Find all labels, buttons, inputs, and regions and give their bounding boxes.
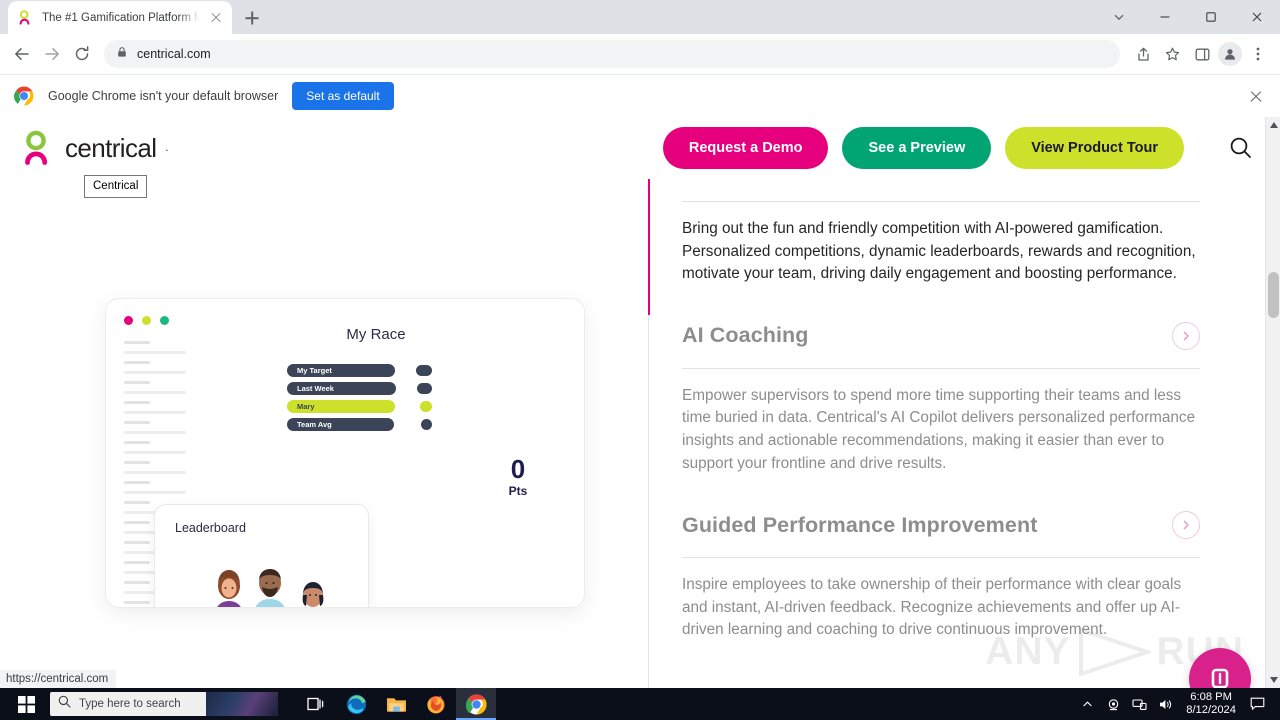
page-viewport: centrical . Request a Demo See a Preview… [0, 117, 1280, 688]
leaderboard-card: Leaderboard [154, 504, 369, 608]
site-logo[interactable]: centrical . [22, 130, 168, 166]
race-bar-team-avg: Team Avg [287, 418, 394, 431]
site-search-icon[interactable] [1226, 133, 1256, 163]
tab-close-icon[interactable] [208, 10, 224, 26]
race-pill-team-avg [421, 419, 432, 430]
close-button[interactable] [1234, 0, 1280, 34]
infobar-close-icon[interactable] [1248, 88, 1264, 104]
taskbar-search-placeholder: Type here to search [79, 698, 181, 710]
logo-trademark: . [165, 142, 168, 154]
gamification-body: Bring out the fun and friendly competiti… [682, 202, 1200, 286]
view-product-tour-button[interactable]: View Product Tour [1005, 127, 1184, 169]
request-a-demo-button[interactable]: Request a Demo [663, 127, 829, 169]
race-pill-mary [420, 401, 432, 412]
points-label: Pts [509, 484, 528, 498]
product-mock-pane: My Race My Target Last Week Mary [0, 179, 648, 688]
mock-window-dots [124, 316, 169, 325]
guided-performance-body: Inspire employees to take ownership of t… [682, 558, 1200, 642]
leaderboard-podium-illustration [185, 557, 345, 608]
chrome-logo-icon [14, 86, 34, 106]
tab-search-chevron-icon[interactable] [1096, 0, 1142, 34]
mock-title: My Race [106, 326, 584, 343]
race-pill-my-target [416, 365, 432, 376]
clock-time: 6:08 PM [1186, 691, 1236, 704]
scroll-up-arrow[interactable] [1266, 117, 1280, 133]
window-dot-green [160, 316, 169, 325]
network-icon[interactable] [1126, 688, 1152, 720]
forward-button[interactable] [38, 40, 66, 68]
status-bar-url: https://centrical.com [0, 670, 116, 688]
browser-window: The #1 Gamification Platform fo [0, 0, 1280, 688]
firefox-icon[interactable] [416, 688, 456, 720]
see-a-preview-button[interactable]: See a Preview [842, 127, 991, 169]
browser-tab[interactable]: The #1 Gamification Platform fo [8, 1, 232, 34]
ai-coaching-body: Empower supervisors to spend more time s… [682, 369, 1200, 475]
volume-icon[interactable] [1152, 688, 1178, 720]
new-tab-button[interactable] [238, 4, 266, 32]
ai-coaching-title: AI Coaching [682, 323, 809, 348]
guided-performance-title: Guided Performance Improvement [682, 513, 1037, 538]
logo-text: centrical [65, 133, 156, 164]
search-icon [58, 695, 71, 713]
scrollbar-thumb[interactable] [1268, 272, 1279, 318]
scroll-down-arrow[interactable] [1266, 672, 1280, 688]
window-dot-lime [142, 316, 151, 325]
race-row: Last Week [287, 382, 432, 395]
windows-start-icon[interactable] [4, 688, 48, 720]
taskbar-search-input[interactable]: Type here to search [50, 692, 278, 716]
header-cta-group: Request a Demo See a Preview View Produc… [663, 127, 1184, 169]
race-pill-last-week [417, 383, 432, 394]
toolbar-actions [1128, 40, 1272, 68]
guided-performance-header[interactable]: Guided Performance Improvement [682, 475, 1200, 557]
race-bar-mary: Mary [287, 400, 395, 413]
window-dot-pink [124, 316, 133, 325]
race-bar-my-target: My Target [287, 364, 395, 377]
reload-button[interactable] [68, 40, 96, 68]
action-center-icon[interactable] [1244, 688, 1270, 720]
task-view-icon[interactable] [296, 688, 336, 720]
maximize-button[interactable] [1188, 0, 1234, 34]
features-accordion: Bring out the fun and friendly competiti… [648, 179, 1280, 688]
share-icon[interactable] [1128, 40, 1156, 68]
tab-strip: The #1 Gamification Platform fo [0, 0, 1280, 34]
bookmark-star-icon[interactable] [1158, 40, 1186, 68]
windows-taskbar: Type here to search [0, 688, 1280, 720]
profile-avatar[interactable] [1218, 42, 1242, 66]
system-tray: 6:08 PM 8/12/2024 [1074, 688, 1276, 720]
page-scrollbar[interactable] [1265, 117, 1280, 688]
chevron-right-icon[interactable] [1172, 322, 1200, 350]
chevron-right-icon[interactable] [1172, 511, 1200, 539]
default-browser-infobar: Google Chrome isn't your default browser… [0, 74, 1280, 117]
points-display: 0 Pts [509, 456, 528, 498]
centrical-logo-icon [22, 130, 56, 166]
chevron-up-icon[interactable] [1074, 688, 1100, 720]
points-value: 0 [509, 456, 528, 482]
window-controls [1096, 0, 1280, 34]
race-row: Team Avg [287, 418, 432, 431]
my-race-mock-window: My Race My Target Last Week Mary [105, 298, 585, 608]
minimize-button[interactable] [1142, 0, 1188, 34]
microsoft-edge-icon[interactable] [336, 688, 376, 720]
lock-icon [116, 45, 128, 63]
race-row: My Target [287, 364, 432, 377]
race-bar-last-week: Last Week [287, 382, 396, 395]
page-content: My Race My Target Last Week Mary [0, 179, 1280, 688]
leaderboard-title: Leaderboard [175, 521, 246, 535]
address-bar-url: centrical.com [137, 47, 211, 61]
file-explorer-icon[interactable] [376, 688, 416, 720]
side-panel-icon[interactable] [1188, 40, 1216, 68]
taskbar-clock[interactable]: 6:08 PM 8/12/2024 [1178, 691, 1244, 717]
ai-coaching-header[interactable]: AI Coaching [682, 286, 1200, 368]
tab-title: The #1 Gamification Platform fo [42, 12, 200, 24]
site-header: centrical . Request a Demo See a Preview… [0, 117, 1280, 179]
chat-widget-button[interactable] [1189, 648, 1251, 688]
infobar-message: Google Chrome isn't your default browser [48, 89, 278, 103]
clock-date: 8/12/2024 [1186, 704, 1236, 717]
webcam-icon[interactable] [1100, 688, 1126, 720]
set-as-default-button[interactable]: Set as default [292, 82, 393, 110]
search-highlight-thumbnail [206, 692, 278, 716]
chrome-menu-icon[interactable] [1244, 40, 1272, 68]
google-chrome-icon[interactable] [456, 688, 496, 720]
address-bar[interactable]: centrical.com [104, 40, 1120, 68]
back-button[interactable] [8, 40, 36, 68]
race-row: Mary [287, 400, 432, 413]
logo-tooltip: Centrical [84, 175, 147, 198]
centrical-favicon-icon [18, 10, 34, 26]
browser-toolbar: centrical.com [0, 34, 1280, 74]
my-race-chart: My Target Last Week Mary Team Avg [287, 364, 432, 436]
